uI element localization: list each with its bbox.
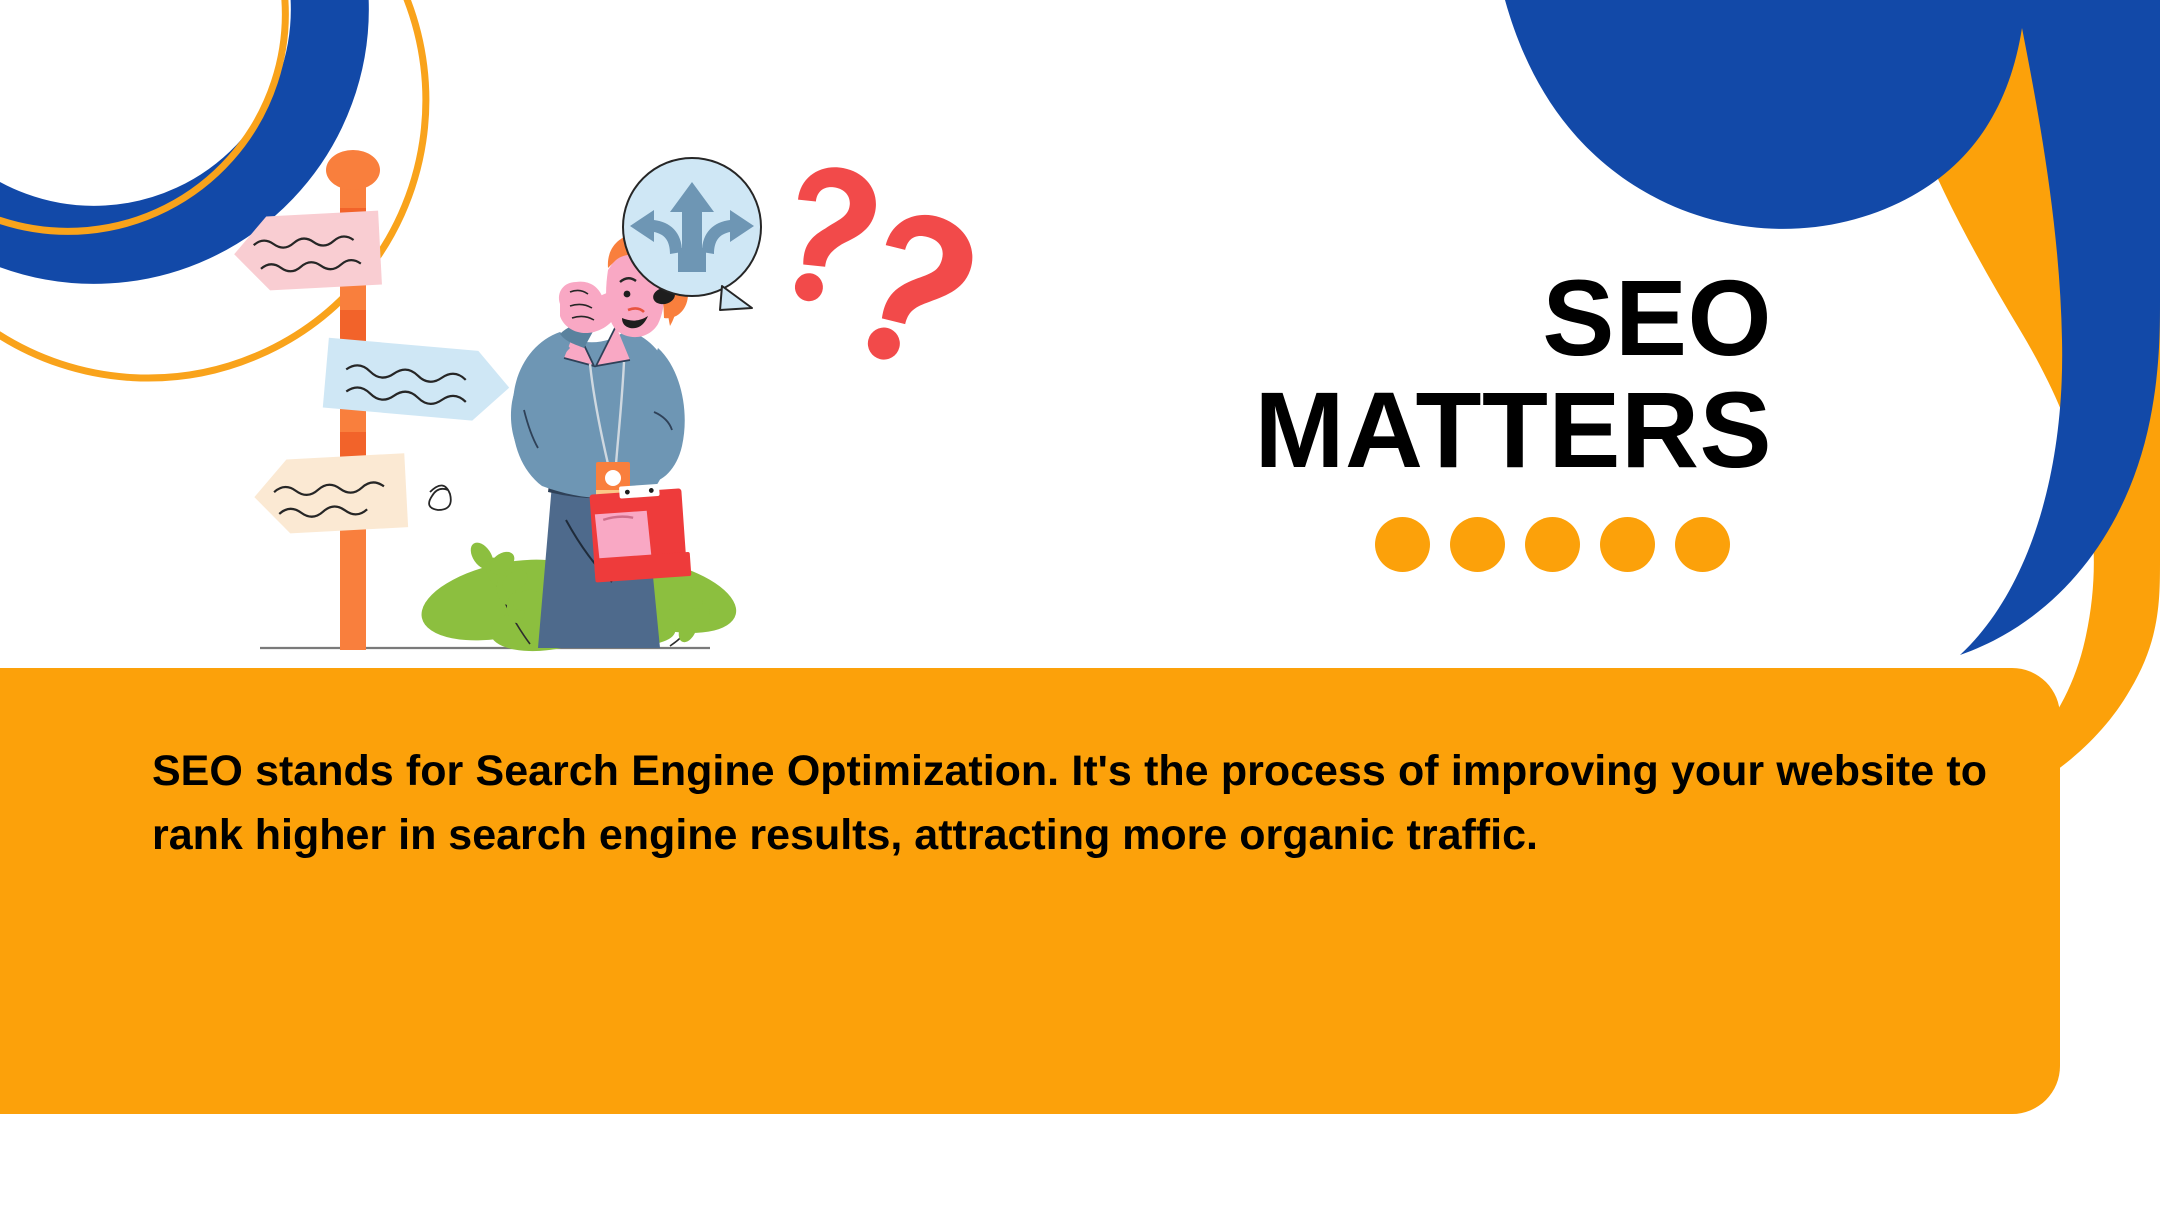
clipboard	[589, 482, 691, 582]
sign-bottom-cream	[252, 453, 408, 535]
doodle-squiggle	[429, 485, 451, 510]
dot-3	[1525, 517, 1580, 572]
dot-2	[1450, 517, 1505, 572]
headline-block: SEO MATTERS	[1072, 262, 1772, 572]
question-mark-2	[859, 206, 981, 375]
question-mark-1	[788, 164, 880, 308]
id-badge-photo	[605, 470, 621, 486]
thought-bubble-tail	[720, 286, 752, 310]
sign-top-pink	[232, 211, 382, 293]
body-panel: SEO stands for Search Engine Optimizatio…	[0, 668, 2060, 1114]
signpost-finial	[326, 150, 380, 190]
illustration-confused-person-signpost	[230, 120, 990, 680]
decorative-dots-row	[1072, 517, 1772, 572]
dot-5	[1675, 517, 1730, 572]
person-eye	[624, 291, 631, 298]
dot-4	[1600, 517, 1655, 572]
body-paragraph: SEO stands for Search Engine Optimizatio…	[152, 740, 1987, 867]
dot-1	[1375, 517, 1430, 572]
slide-canvas: SEO MATTERS SEO stands for Search Engine…	[0, 0, 2160, 1215]
headline-line-2: MATTERS	[1072, 374, 1772, 486]
question-marks-group	[788, 164, 981, 375]
headline-line-1: SEO	[1072, 262, 1772, 374]
